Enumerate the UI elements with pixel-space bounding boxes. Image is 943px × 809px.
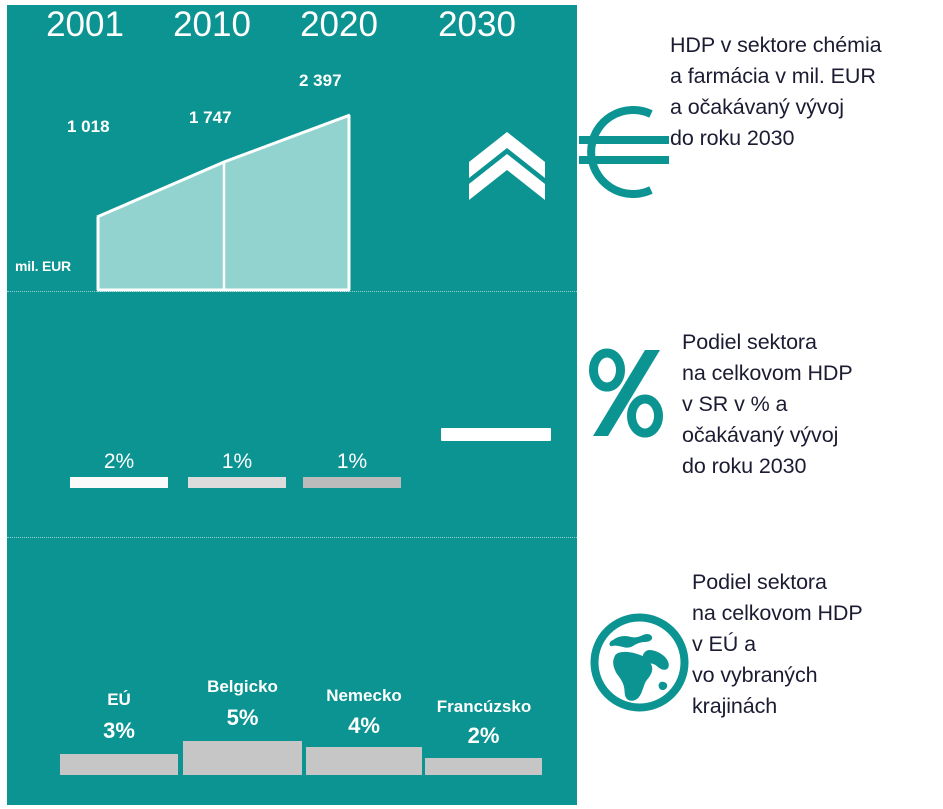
- caption-line: do roku 2030: [682, 451, 853, 482]
- section-share-countries: EÚ 3% Belgicko 5% Nemecko 4% Francúzsko …: [7, 538, 577, 805]
- caption-line: v EÚ a: [692, 629, 863, 660]
- caption-gdp-sector: HDP v sektore chémia a farmácia v mil. E…: [670, 30, 882, 154]
- year-label-2001: 2001: [30, 4, 140, 46]
- country-value-france: 2%: [425, 724, 542, 748]
- country-bar-germany: [306, 747, 422, 775]
- country-value-germany: 4%: [306, 714, 422, 738]
- caption-line: do roku 2030: [670, 123, 882, 154]
- section-divider-1: [7, 291, 577, 292]
- infographic-root: 2001 2010 2020 2030 1 018 1 747 2 397 mi…: [0, 0, 943, 809]
- year-label-2010: 2010: [157, 4, 267, 46]
- globe-icon: [587, 610, 692, 715]
- percent-bar-2030-forecast: [441, 428, 551, 441]
- caption-line: a farmácia v mil. EUR: [670, 61, 882, 92]
- y-axis-unit-label: mil. EUR: [15, 258, 71, 274]
- country-name-belgium: Belgicko: [183, 677, 302, 697]
- percent-bar-2001: [70, 477, 168, 488]
- caption-line: Podiel sektora: [692, 567, 863, 598]
- country-name-eu: EÚ: [60, 690, 178, 710]
- percent-bar-2010: [188, 477, 286, 488]
- gdp-value-label-2001: 1 018: [67, 117, 110, 137]
- year-header-row: 2001 2010 2020 2030: [7, 4, 577, 48]
- country-bar-belgium: [183, 741, 302, 775]
- caption-line: očakávaný vývoj: [682, 420, 853, 451]
- percent-bar-2020: [303, 477, 401, 488]
- country-bar-france: [425, 758, 542, 775]
- percent-icon: [588, 348, 664, 438]
- caption-line: na celkovom HDP: [682, 358, 853, 389]
- euro-icon: [565, 98, 673, 206]
- country-name-france: Francúzsko: [421, 697, 547, 717]
- year-label-2030: 2030: [422, 4, 532, 46]
- caption-line: krajinách: [692, 691, 863, 722]
- caption-share-eu: Podiel sektora na celkovom HDP v EÚ a vo…: [692, 567, 863, 722]
- country-value-eu: 3%: [60, 719, 178, 743]
- caption-line: v SR v % a: [682, 389, 853, 420]
- double-chevron-up-icon: [467, 130, 547, 200]
- year-label-2020: 2020: [284, 4, 394, 46]
- caption-share-sr: Podiel sektora na celkovom HDP v SR v % …: [682, 327, 853, 482]
- percent-label-2010: 1%: [187, 450, 287, 474]
- country-name-germany: Nemecko: [306, 686, 422, 706]
- caption-line: na celkovom HDP: [692, 598, 863, 629]
- section-share-sr-percent: 2% 1% 1%: [7, 300, 577, 537]
- gdp-value-label-2010: 1 747: [189, 108, 232, 128]
- gdp-value-label-2020: 2 397: [299, 71, 342, 91]
- country-value-belgium: 5%: [183, 706, 302, 730]
- percent-label-2001: 2%: [69, 450, 169, 474]
- caption-line: Podiel sektora: [682, 327, 853, 358]
- section-gdp-area-chart: 1 018 1 747 2 397 mil. EUR: [7, 48, 577, 300]
- caption-line: HDP v sektore chémia: [670, 30, 882, 61]
- percent-label-2020: 1%: [302, 450, 402, 474]
- country-bar-eu: [60, 754, 178, 775]
- caption-line: a očakávaný vývoj: [670, 92, 882, 123]
- caption-line: vo vybraných: [692, 660, 863, 691]
